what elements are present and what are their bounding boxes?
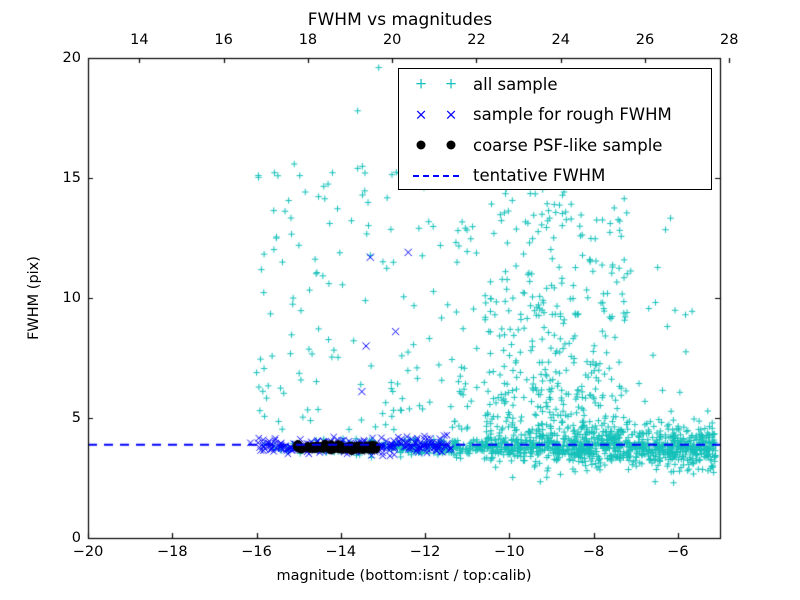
x-tick-label-top: 18 [299,32,317,48]
x-tick-label-bottom: −16 [241,544,272,560]
legend-label-tentative-fwhm: tentative FWHM [473,166,605,185]
y-tick-label: 10 [63,290,81,306]
legend-label-all-sample: all sample [473,75,558,94]
figure: FWHM vs magnitudes magnitude (bottom:isn… [0,0,800,600]
page-title: FWHM vs magnitudes [308,10,493,30]
legend: + + all sample × × sample for rough FWHM… [398,68,712,190]
plus-icon: + [445,77,458,92]
legend-marker-all-sample: + + [399,69,473,99]
legend-item-coarse-psf: coarse PSF-like sample [399,130,711,161]
x-tick-label-bottom: −12 [410,544,441,560]
legend-item-tentative-fwhm: tentative FWHM [399,161,711,192]
legend-item-all-sample: + + all sample [399,69,711,100]
y-tick-label: 0 [72,530,81,546]
legend-label-coarse-psf: coarse PSF-like sample [473,136,662,155]
x-tick-label-top: 16 [214,32,232,48]
x-tick-label-top: 24 [552,32,570,48]
x-tick-label-top: 22 [467,32,485,48]
x-tick-label-top: 20 [383,32,401,48]
x-tick-label-bottom: −6 [667,544,688,560]
dashed-line-icon [413,175,459,177]
x-tick-label-bottom: −10 [494,544,525,560]
y-axis-label: FWHM (pix) [26,256,42,340]
legend-marker-coarse-psf [399,130,473,160]
x-tick-label-top: 26 [636,32,654,48]
x-tick-label-top: 28 [720,32,738,48]
x-tick-label-bottom: −14 [325,544,356,560]
filled-circle-icon [417,141,426,150]
plus-icon: + [415,77,428,92]
y-tick-label: 15 [63,170,81,186]
filled-circle-icon [447,141,456,150]
x-tick-label-top: 14 [130,32,148,48]
legend-item-rough-fwhm: × × sample for rough FWHM [399,100,711,131]
ex-icon: × [415,107,428,122]
ex-icon: × [445,107,458,122]
x-axis-label: magnitude (bottom:isnt / top:calib) [276,568,531,584]
x-tick-label-bottom: −8 [583,544,604,560]
x-tick-label-bottom: −20 [73,544,104,560]
y-tick-label: 20 [63,50,81,66]
x-tick-label-bottom: −18 [157,544,188,560]
legend-label-rough-fwhm: sample for rough FWHM [473,105,672,124]
y-tick-label: 5 [72,410,81,426]
legend-marker-tentative-fwhm [399,161,473,191]
legend-marker-rough-fwhm: × × [399,100,473,130]
